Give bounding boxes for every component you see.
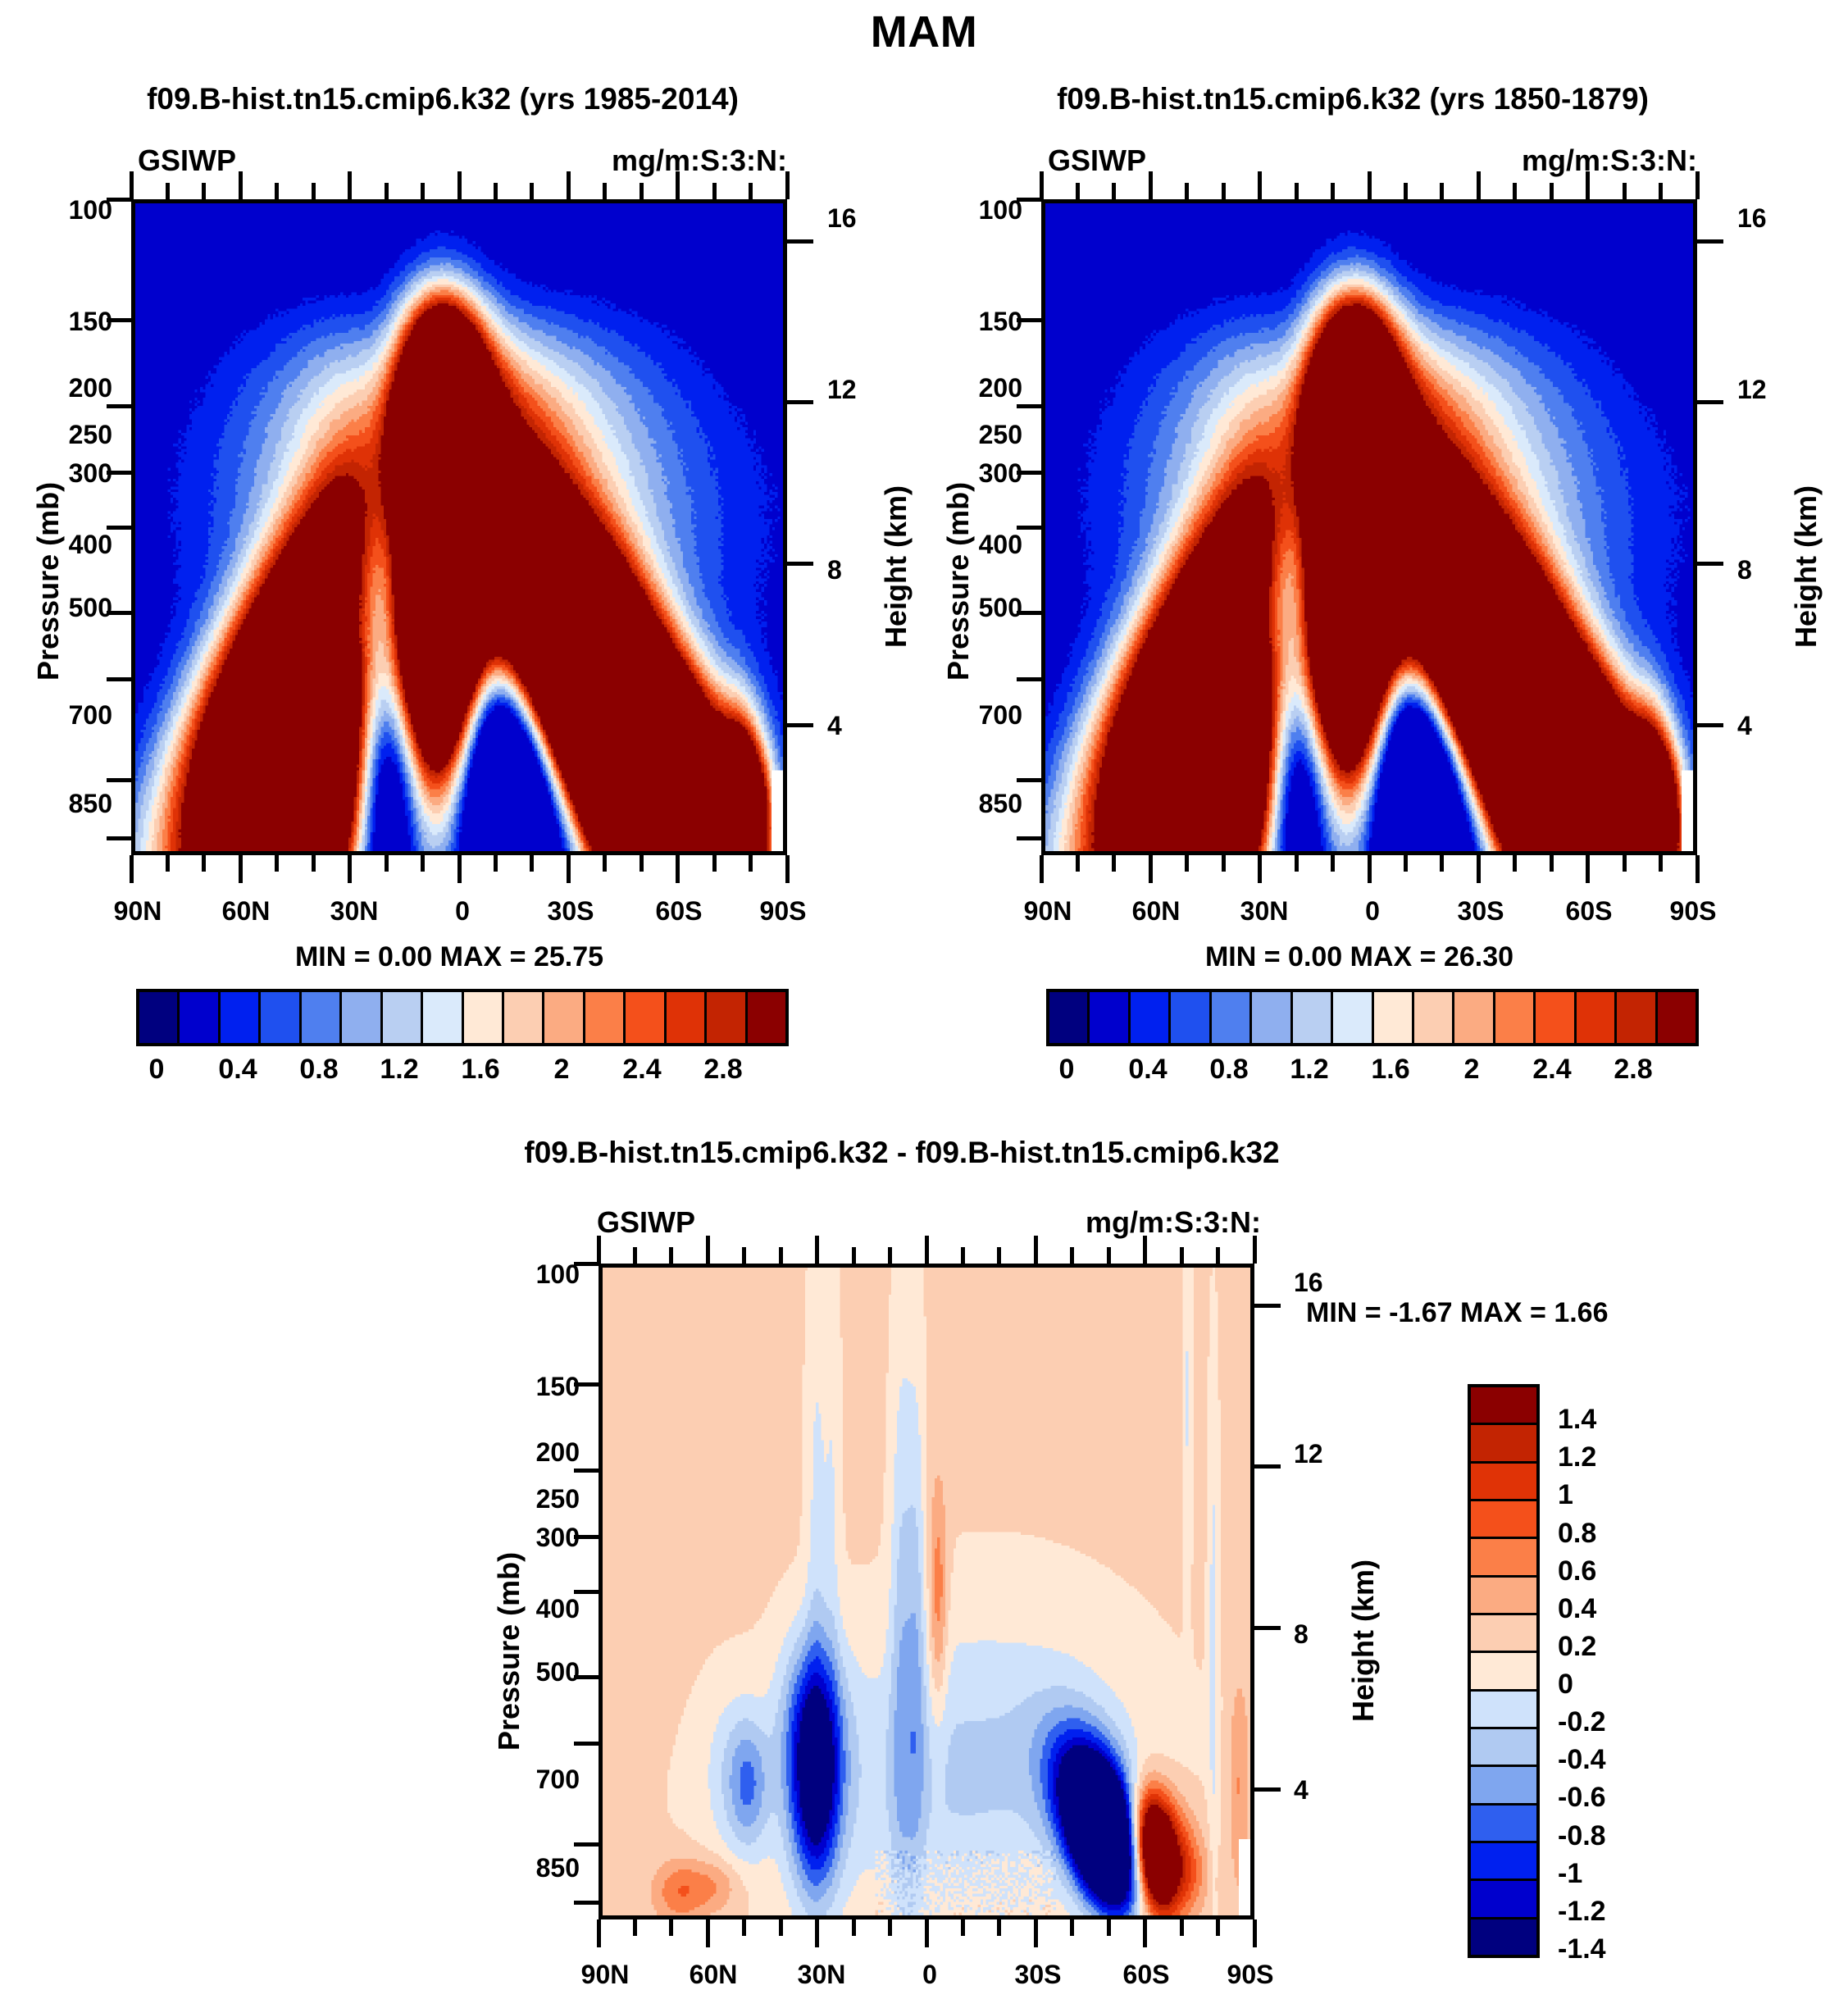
axis-tick <box>1070 1919 1074 1936</box>
colorbar-tick-label: 0.4 <box>1558 1593 1596 1625</box>
colorbar-segment <box>504 992 544 1043</box>
axis-tick <box>202 183 206 199</box>
colorbar-segment <box>1471 1919 1536 1955</box>
variable-label-bottom: GSIWP <box>597 1205 695 1240</box>
axis-tick <box>1112 855 1116 872</box>
axis-tick <box>1295 855 1299 872</box>
axis-tick <box>1180 1247 1184 1264</box>
axis-tick <box>348 171 352 199</box>
axis-tick <box>1550 855 1554 872</box>
colorbar-tick-label: -1 <box>1558 1858 1582 1890</box>
axis-tick <box>1253 1236 1257 1264</box>
colorbar-segment <box>1454 992 1495 1043</box>
colorbar-segment <box>1471 1539 1536 1577</box>
axis-tick <box>166 183 170 199</box>
axis-tick <box>1107 1919 1111 1936</box>
axis-tick <box>742 1919 746 1936</box>
axis-tick <box>1697 723 1723 727</box>
axis-tick <box>1697 239 1723 244</box>
axis-tick <box>574 1469 599 1473</box>
cblabel-12-tl: 1.2 <box>380 1054 418 1086</box>
axis-tick <box>742 1247 746 1264</box>
ytick-400-bd: 400 <box>536 1594 580 1624</box>
axis-tick <box>107 611 131 615</box>
panel-title-top-left: f09.B-hist.tn15.cmip6.k32 (yrs 1985-2014… <box>147 82 739 116</box>
colorbar-segment <box>707 992 747 1043</box>
xtick-0-bd: 0 <box>922 1960 937 1990</box>
axis-tick <box>997 1247 1001 1264</box>
ytick-150-tr: 150 <box>979 307 1022 337</box>
colorbar-tick-label: 1.4 <box>1558 1404 1596 1436</box>
axis-tick <box>1404 183 1408 199</box>
axis-tick <box>1112 183 1116 199</box>
axis-tick <box>166 855 170 872</box>
colorbar-segment <box>1374 992 1414 1043</box>
axis-tick <box>925 1919 929 1947</box>
colorbar-segment <box>464 992 504 1043</box>
axis-tick <box>1017 677 1041 681</box>
axis-tick <box>1697 400 1723 404</box>
ztick-12-tr: 12 <box>1737 375 1767 405</box>
axis-tick <box>107 836 131 840</box>
cblabel-12-tr: 1.2 <box>1290 1054 1328 1086</box>
ytick-500-tr: 500 <box>979 593 1022 623</box>
colorbar-tick-label: -0.8 <box>1558 1820 1606 1852</box>
masked-region <box>1239 1839 1250 1915</box>
colorbar-tick-label: 0.6 <box>1558 1555 1596 1587</box>
axis-tick <box>574 1262 599 1266</box>
units-label-bottom: mg/m:S:3:N: <box>1086 1205 1261 1240</box>
axis-tick <box>107 318 131 322</box>
axis-tick <box>1513 855 1517 872</box>
colorbar-segment <box>1577 992 1617 1043</box>
xtick-60S-tr: 60S <box>1566 896 1613 927</box>
ztick-8-bd: 8 <box>1294 1619 1309 1650</box>
axis-tick <box>312 183 316 199</box>
axis-tick <box>597 1919 601 1947</box>
ytick-700-bd: 700 <box>536 1765 580 1795</box>
colorbar-segment <box>1471 1464 1536 1501</box>
xtick-0-tl: 0 <box>455 896 470 927</box>
cblabel-08-tr: 0.8 <box>1209 1054 1248 1086</box>
axis-tick <box>1040 171 1044 199</box>
cblabel-2-tr: 2 <box>1464 1054 1480 1086</box>
axis-tick <box>574 1675 599 1679</box>
ytick-400-tl: 400 <box>69 530 112 560</box>
colorbar-segment <box>1471 1806 1536 1843</box>
colorbar-top-left[interactable] <box>136 989 789 1046</box>
colorbar-tick-label: -1.4 <box>1558 1933 1606 1965</box>
cblabel-24-tl: 2.4 <box>622 1054 661 1086</box>
ytick-200-tr: 200 <box>979 373 1022 403</box>
ytick-150-tl: 150 <box>69 307 112 337</box>
colorbar-segment <box>1252 992 1292 1043</box>
colorbar-segment <box>1049 992 1090 1043</box>
axis-tick <box>385 855 389 872</box>
axis-tick <box>1040 855 1044 883</box>
ytick-250-tl: 250 <box>69 420 112 450</box>
axis-tick <box>107 677 131 681</box>
ztick-16-tr: 16 <box>1737 203 1767 234</box>
colorbar-segment <box>221 992 261 1043</box>
axis-tick <box>633 1919 637 1936</box>
axis-tick <box>385 183 389 199</box>
colorbar-segment <box>1471 1692 1536 1729</box>
cblabel-16-tl: 1.6 <box>461 1054 499 1086</box>
xtick-30S-tl: 30S <box>548 896 594 927</box>
axis-tick <box>1586 855 1590 883</box>
axis-tick <box>130 171 134 199</box>
xtick-90S-tr: 90S <box>1670 896 1717 927</box>
cblabel-08-tl: 0.8 <box>299 1054 338 1086</box>
cblabel-24-tr: 2.4 <box>1532 1054 1571 1086</box>
axis-tick <box>785 171 790 199</box>
axis-tick <box>669 1247 673 1264</box>
cblabel-16-tr: 1.6 <box>1371 1054 1409 1086</box>
axis-tick <box>1477 171 1481 199</box>
colorbar-segment <box>667 992 707 1043</box>
ytick-100-bd: 100 <box>536 1259 580 1290</box>
ytick-250-bd: 250 <box>536 1484 580 1514</box>
axis-tick <box>1254 1304 1281 1308</box>
colorbar-segment <box>342 992 382 1043</box>
axis-tick <box>107 778 131 782</box>
axis-tick <box>107 404 131 408</box>
ytick-400-tr: 400 <box>979 530 1022 560</box>
panel-title-bottom-diff: f09.B-hist.tn15.cmip6.k32 - f09.B-hist.t… <box>524 1136 1279 1170</box>
axis-tick <box>312 855 316 872</box>
axis-tick <box>574 1842 599 1847</box>
colorbar-segment <box>383 992 423 1043</box>
axis-tick <box>107 198 131 202</box>
minmax-bottom-diff: MIN = -1.67 MAX = 1.66 <box>1306 1297 1609 1329</box>
ztick-4-bd: 4 <box>1294 1775 1309 1806</box>
axis-tick <box>603 855 607 872</box>
yaxis-right-label-top-right: Height (km) <box>1789 485 1823 648</box>
axis-tick <box>1696 171 1700 199</box>
colorbar-segment <box>1617 992 1657 1043</box>
ytick-500-bd: 500 <box>536 1657 580 1687</box>
axis-tick <box>1143 1919 1147 1947</box>
colorbar-segment <box>1212 992 1252 1043</box>
axis-tick <box>1254 1626 1281 1630</box>
xtick-30N-tr: 30N <box>1240 896 1289 927</box>
axis-tick <box>1477 855 1481 883</box>
ztick-12-bd: 12 <box>1294 1439 1323 1469</box>
axis-tick <box>787 723 813 727</box>
axis-tick <box>1076 855 1080 872</box>
ytick-850-bd: 850 <box>536 1853 580 1883</box>
colorbar-segment <box>626 992 666 1043</box>
yaxis-right-label-top-left: Height (km) <box>879 485 913 648</box>
ytick-300-bd: 300 <box>536 1523 580 1553</box>
colorbar-segment <box>1471 1425 1536 1463</box>
colorbar-segment <box>1471 1729 1536 1767</box>
axis-tick <box>457 171 462 199</box>
axis-tick <box>574 1382 599 1387</box>
axis-tick <box>925 1236 929 1264</box>
axis-tick <box>574 1742 599 1746</box>
panel-title-top-right: f09.B-hist.tn15.cmip6.k32 (yrs 1850-1879… <box>1057 82 1649 116</box>
colorbar-segment <box>1471 1578 1536 1615</box>
colorbar-segment <box>1495 992 1536 1043</box>
axis-tick <box>1017 198 1041 202</box>
colorbar-segment <box>1471 1881 1536 1919</box>
axis-tick <box>706 1236 710 1264</box>
axis-tick <box>1623 183 1627 199</box>
yaxis-right-label-bottom: Height (km) <box>1346 1560 1381 1722</box>
axis-tick <box>815 1236 819 1264</box>
axis-tick <box>421 855 425 872</box>
ytick-850-tl: 850 <box>69 789 112 819</box>
contour-plot-top-left[interactable] <box>131 199 787 855</box>
colorbar-segment <box>1131 992 1171 1043</box>
variable-label-top-left: GSIWP <box>138 143 236 178</box>
ytick-850-tr: 850 <box>979 789 1022 819</box>
cblabel-2-tl: 2 <box>554 1054 570 1086</box>
colorbar-segment <box>1471 1843 1536 1881</box>
cblabel-04-tl: 0.4 <box>218 1054 257 1086</box>
xtick-60N-tl: 60N <box>222 896 271 927</box>
xtick-60N-tr: 60N <box>1132 896 1181 927</box>
axis-tick <box>574 1590 599 1594</box>
ztick-4-tl: 4 <box>827 711 842 741</box>
masked-region <box>772 770 783 851</box>
axis-tick <box>785 855 790 883</box>
ytick-500-tl: 500 <box>69 593 112 623</box>
axis-tick <box>1017 318 1041 322</box>
ztick-8-tl: 8 <box>827 555 842 585</box>
axis-tick <box>530 855 534 872</box>
colorbar-segment <box>1414 992 1454 1043</box>
axis-tick <box>1034 1236 1038 1264</box>
axis-tick <box>1017 404 1041 408</box>
axis-tick <box>1254 1787 1281 1792</box>
axis-tick <box>787 239 813 244</box>
axis-tick <box>597 1236 601 1264</box>
colorbar-tick-label: 0.8 <box>1558 1518 1596 1550</box>
axis-tick <box>1696 855 1700 883</box>
axis-tick <box>1070 1247 1074 1264</box>
ytick-100-tl: 100 <box>69 195 112 225</box>
colorbar-segment <box>748 992 785 1043</box>
axis-tick <box>421 183 425 199</box>
axis-tick <box>574 1901 599 1905</box>
figure-root: MAM f09.B-hist.tn15.cmip6.k32 (yrs 1985-… <box>0 0 1848 1981</box>
axis-tick <box>779 1919 783 1936</box>
axis-tick <box>1331 183 1335 199</box>
axis-tick <box>275 855 279 872</box>
contour-plot-top-right[interactable] <box>1041 199 1697 855</box>
axis-tick <box>1017 471 1041 475</box>
axis-tick <box>567 855 571 883</box>
ztick-8-tr: 8 <box>1737 555 1752 585</box>
ytick-700-tl: 700 <box>69 700 112 731</box>
axis-tick <box>1586 171 1590 199</box>
axis-tick <box>1623 855 1627 872</box>
minmax-top-right: MIN = 0.00 MAX = 26.30 <box>1205 941 1513 973</box>
axis-tick <box>1185 183 1189 199</box>
colorbar-segment <box>1471 1767 1536 1805</box>
contour-field <box>603 1268 1250 1915</box>
axis-tick <box>787 400 813 404</box>
xtick-30S-bd: 30S <box>1015 1960 1062 1990</box>
axis-tick <box>815 1919 819 1947</box>
axis-tick <box>1034 1919 1038 1947</box>
colorbar-tick-label: 1.2 <box>1558 1441 1596 1473</box>
axis-tick <box>494 183 498 199</box>
ztick-16-bd: 16 <box>1294 1268 1323 1298</box>
main-title: MAM <box>871 7 977 57</box>
masked-region <box>1682 770 1693 851</box>
xtick-90N-bd: 90N <box>581 1960 630 1990</box>
colorbar-segment <box>139 992 180 1043</box>
axis-tick <box>1659 855 1663 872</box>
axis-tick <box>997 1919 1001 1936</box>
axis-tick <box>633 1247 637 1264</box>
colorbar-segment <box>1333 992 1373 1043</box>
xtick-30S-tr: 30S <box>1458 896 1504 927</box>
xtick-0-tr: 0 <box>1365 896 1380 927</box>
colorbar-segment <box>585 992 626 1043</box>
axis-tick <box>107 471 131 475</box>
axis-tick <box>1404 855 1408 872</box>
axis-tick <box>202 855 206 872</box>
axis-tick <box>1017 611 1041 615</box>
colorbar-tick-label: -0.2 <box>1558 1706 1606 1738</box>
axis-tick <box>1331 855 1335 872</box>
axis-tick <box>1258 171 1262 199</box>
axis-tick <box>1076 183 1080 199</box>
axis-tick <box>706 1919 710 1947</box>
xtick-30N-bd: 30N <box>798 1960 846 1990</box>
axis-tick <box>574 1535 599 1539</box>
axis-tick <box>1253 1919 1257 1947</box>
ztick-4-tr: 4 <box>1737 711 1752 741</box>
ytick-700-tr: 700 <box>979 700 1022 731</box>
axis-tick <box>1222 183 1226 199</box>
axis-tick <box>1149 855 1153 883</box>
colorbar-segment <box>1471 1501 1536 1539</box>
axis-tick <box>1440 183 1444 199</box>
colorbar-tick-label: 0 <box>1558 1669 1573 1701</box>
axis-tick <box>1017 526 1041 530</box>
cblabel-28-tr: 2.8 <box>1614 1054 1652 1086</box>
cblabel-04-tr: 0.4 <box>1128 1054 1167 1086</box>
colorbar-segment <box>1536 992 1576 1043</box>
axis-tick <box>712 855 717 872</box>
axis-tick <box>494 855 498 872</box>
variable-label-top-right: GSIWP <box>1048 143 1146 178</box>
units-label-top-right: mg/m:S:3:N: <box>1522 143 1697 178</box>
colorbar-bottom-diff[interactable] <box>1468 1384 1540 1958</box>
axis-tick <box>749 855 753 872</box>
cblabel-28-tl: 2.8 <box>703 1054 742 1086</box>
colorbar-segment <box>1293 992 1333 1043</box>
axis-tick <box>1222 855 1226 872</box>
xtick-60N-bd: 60N <box>690 1960 738 1990</box>
ytick-150-bd: 150 <box>536 1372 580 1402</box>
yaxis-left-label-top-left: Pressure (mb) <box>31 482 66 681</box>
axis-tick <box>1107 1247 1111 1264</box>
colorbar-segment <box>423 992 463 1043</box>
axis-tick <box>749 183 753 199</box>
axis-tick <box>107 526 131 530</box>
ztick-12-tl: 12 <box>827 375 857 405</box>
colorbar-tick-label: -0.6 <box>1558 1782 1606 1814</box>
ztick-16-tl: 16 <box>827 203 857 234</box>
axis-tick <box>457 855 462 883</box>
axis-tick <box>1185 855 1189 872</box>
axis-tick <box>1149 171 1153 199</box>
axis-tick <box>1017 778 1041 782</box>
axis-tick <box>961 1919 965 1936</box>
ytick-100-tr: 100 <box>979 195 1022 225</box>
colorbar-segment <box>1171 992 1211 1043</box>
contour-field <box>1045 203 1693 851</box>
axis-tick <box>888 1919 892 1936</box>
axis-tick <box>1368 855 1372 883</box>
xtick-30N-tl: 30N <box>330 896 379 927</box>
contour-plot-bottom-diff[interactable] <box>599 1264 1254 1919</box>
axis-tick <box>669 1919 673 1936</box>
axis-tick <box>348 855 352 883</box>
axis-tick <box>530 183 534 199</box>
axis-tick <box>1143 1236 1147 1264</box>
colorbar-tick-label: -1.2 <box>1558 1896 1606 1928</box>
xtick-60S-tl: 60S <box>656 896 703 927</box>
units-label-top-left: mg/m:S:3:N: <box>612 143 787 178</box>
contour-field <box>135 203 783 851</box>
colorbar-segment <box>1090 992 1130 1043</box>
axis-tick <box>961 1247 965 1264</box>
colorbar-segment <box>1471 1653 1536 1691</box>
ytick-300-tl: 300 <box>69 458 112 489</box>
minmax-top-left: MIN = 0.00 MAX = 25.75 <box>295 941 603 973</box>
colorbar-tick-label: 0.2 <box>1558 1631 1596 1663</box>
axis-tick <box>779 1247 783 1264</box>
colorbar-segment <box>1658 992 1696 1043</box>
xtick-90S-bd: 90S <box>1227 1960 1274 1990</box>
axis-tick <box>676 855 680 883</box>
xtick-90N-tl: 90N <box>114 896 162 927</box>
axis-tick <box>239 171 243 199</box>
ytick-200-tl: 200 <box>69 373 112 403</box>
axis-tick <box>640 855 644 872</box>
colorbar-segment <box>180 992 220 1043</box>
colorbar-segment <box>1471 1387 1536 1425</box>
colorbar-segment <box>261 992 301 1043</box>
axis-tick <box>1017 836 1041 840</box>
yaxis-left-label-top-right: Pressure (mb) <box>941 482 976 681</box>
axis-tick <box>1254 1464 1281 1469</box>
axis-tick <box>603 183 607 199</box>
ytick-300-tr: 300 <box>979 458 1022 489</box>
colorbar-tick-label: -0.4 <box>1558 1744 1606 1776</box>
cblabel-0-tl: 0 <box>149 1054 165 1086</box>
axis-tick <box>640 183 644 199</box>
axis-tick <box>676 171 680 199</box>
ytick-200-bd: 200 <box>536 1437 580 1468</box>
axis-tick <box>567 171 571 199</box>
yaxis-left-label-bottom: Pressure (mb) <box>492 1552 526 1751</box>
axis-tick <box>1216 1247 1220 1264</box>
colorbar-top-right[interactable] <box>1046 989 1699 1046</box>
axis-tick <box>1258 855 1262 883</box>
xtick-90N-tr: 90N <box>1024 896 1072 927</box>
axis-tick <box>852 1247 856 1264</box>
colorbar-segment <box>1471 1615 1536 1653</box>
